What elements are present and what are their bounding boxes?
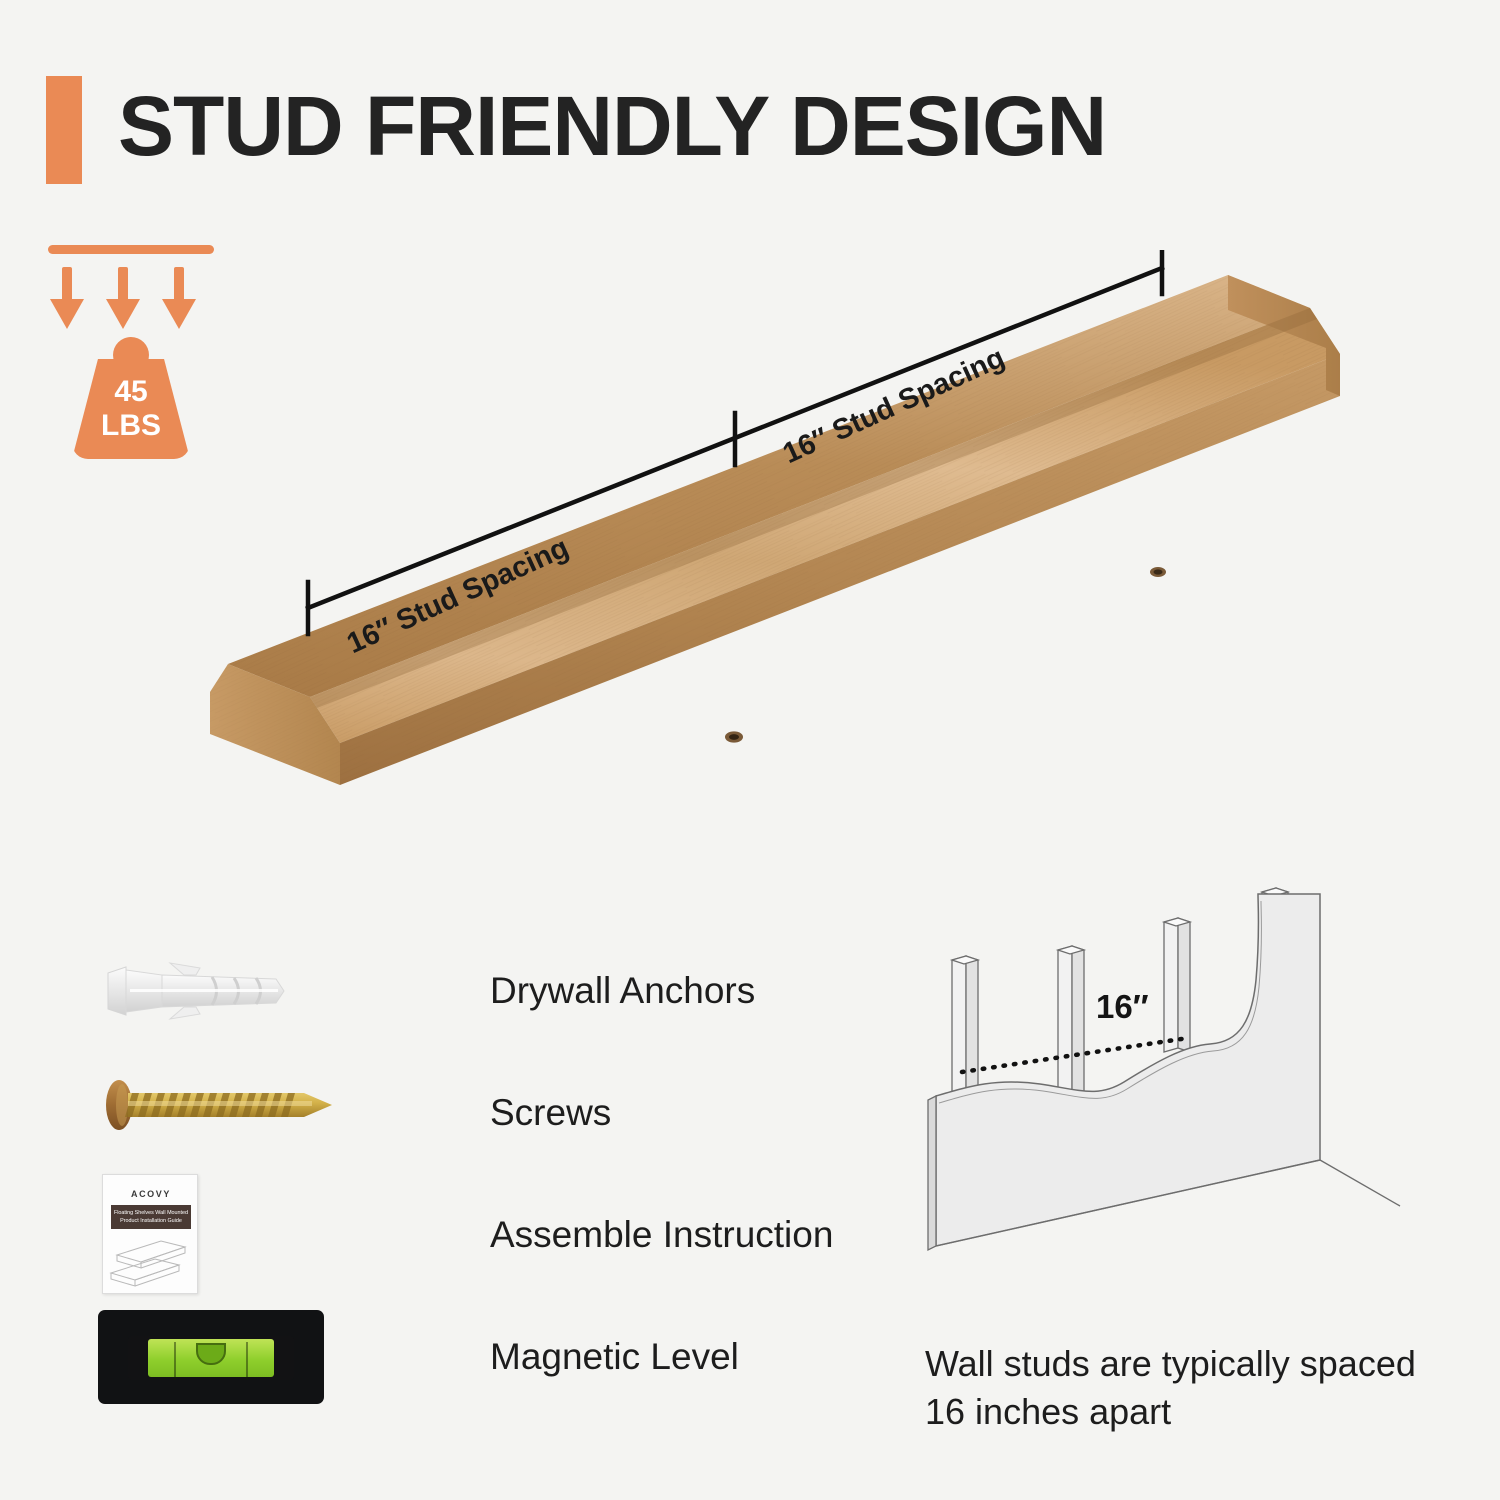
weight-value: 45 xyxy=(72,375,190,409)
accessory-label: Drywall Anchors xyxy=(490,930,755,1052)
accessory-label: Screws xyxy=(490,1052,611,1174)
mounting-hole xyxy=(725,731,743,742)
header: STUD FRIENDLY DESIGN xyxy=(0,62,1500,192)
list-item: Magnetic Level xyxy=(92,1296,852,1418)
mounting-hole xyxy=(1150,567,1166,577)
wall-stud xyxy=(1058,946,1084,1096)
wall-stud-svg xyxy=(900,860,1410,1290)
shelf-svg xyxy=(180,250,1360,810)
accent-bar xyxy=(46,76,82,184)
drywall-anchor-icon xyxy=(92,930,332,1052)
shelf-top-surface xyxy=(310,308,1340,743)
booklet-shelf-diagram xyxy=(103,1233,199,1291)
screw-icon xyxy=(92,1052,332,1174)
booklet-brand: ACOVY xyxy=(103,1189,199,1199)
list-item: Drywall Anchors xyxy=(92,930,852,1052)
booklet-line-1: Floating Shelves Wall Mounted xyxy=(114,1209,188,1217)
down-arrow-icon xyxy=(106,267,140,329)
shelf-inner-shadow xyxy=(310,308,1317,708)
accessory-label: Assemble Instruction xyxy=(490,1174,833,1296)
booklet-line-2: Product Installation Guide xyxy=(120,1217,182,1225)
shelf-product-illustration: 16″ Stud Spacing 16″ Stud Spacing xyxy=(180,250,1360,810)
wall-stud-caption: Wall studs are typically spaced 16 inche… xyxy=(925,1340,1445,1436)
booklet-title-band: Floating Shelves Wall Mounted Product In… xyxy=(111,1205,191,1229)
wall-dimension-label: 16″ xyxy=(1096,988,1149,1026)
weight-capacity-text: 45 LBS xyxy=(72,375,190,443)
accessory-label: Magnetic Level xyxy=(490,1296,739,1418)
wall-stud xyxy=(952,956,978,1104)
wall-stud-diagram: 16″ xyxy=(900,860,1410,1290)
down-arrow-icon xyxy=(50,267,84,329)
level-bubble xyxy=(196,1343,226,1365)
list-item: Screws xyxy=(92,1052,852,1174)
weight-icon: 45 LBS xyxy=(72,337,190,459)
wall-stud xyxy=(1164,918,1190,1052)
accessory-list: Drywall Anchors xyxy=(92,930,852,1418)
weight-unit: LBS xyxy=(72,409,190,443)
list-item: ACOVY Floating Shelves Wall Mounted Prod… xyxy=(92,1174,852,1296)
instruction-booklet-icon: ACOVY Floating Shelves Wall Mounted Prod… xyxy=(92,1174,332,1296)
page-title: STUD FRIENDLY DESIGN xyxy=(118,66,1106,186)
magnetic-level-icon xyxy=(92,1296,332,1418)
